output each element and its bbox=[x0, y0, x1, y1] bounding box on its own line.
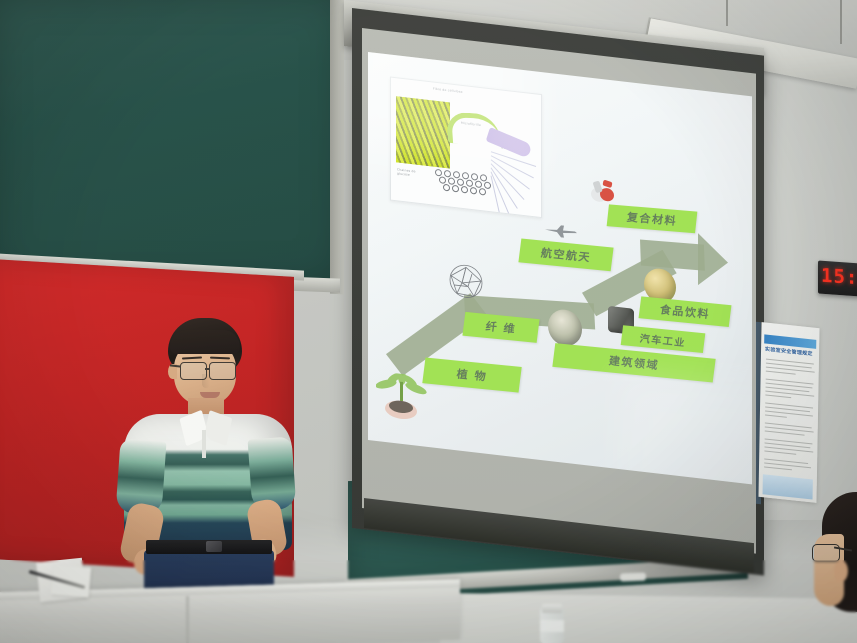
chalkboard-frame bbox=[330, 0, 344, 294]
light-suspension-rod bbox=[840, 0, 842, 44]
inset-caption-bottom: Chaines de glucose bbox=[397, 168, 427, 179]
arrow-head-icon bbox=[698, 233, 728, 288]
wall-clock: 15:2 bbox=[818, 260, 857, 296]
airplane-icon bbox=[544, 222, 578, 240]
wall-poster: 实验室安全管理规定 bbox=[758, 322, 819, 503]
turbine-part-icon bbox=[590, 178, 616, 205]
slide-content: Fibre de cellulose Microfibrille Nanocri… bbox=[368, 52, 752, 484]
eyeglasses-icon bbox=[209, 362, 236, 380]
audience-ear bbox=[834, 560, 848, 582]
desk-seam bbox=[186, 596, 189, 643]
projection-screen: Fibre de cellulose Microfibrille Nanocri… bbox=[368, 52, 752, 484]
audience-member bbox=[812, 492, 857, 643]
poster-footer-image bbox=[763, 474, 813, 499]
front-desk-right bbox=[440, 593, 857, 643]
presenter-nose bbox=[202, 374, 210, 388]
fiber-network-icon bbox=[446, 259, 486, 304]
label-composite: 复合材料 bbox=[607, 204, 698, 233]
clock-time: 15:2 bbox=[821, 265, 857, 290]
classroom-photo: Fibre de cellulose Microfibrille Nanocri… bbox=[0, 0, 857, 643]
seedling-icon bbox=[376, 371, 428, 423]
label-aerospace: 航空航天 bbox=[518, 239, 613, 272]
bottle-label bbox=[540, 620, 564, 632]
presenter-placket bbox=[202, 430, 206, 458]
presenter-hair-fringe bbox=[170, 330, 240, 354]
belt-buckle bbox=[206, 541, 222, 552]
bottle-cap bbox=[542, 604, 562, 613]
arrow-segment-top bbox=[640, 239, 705, 270]
presenter bbox=[110, 318, 300, 608]
chalk-piece bbox=[620, 573, 646, 582]
label-food: 食品饮料 bbox=[639, 296, 732, 327]
label-plant: 植 物 bbox=[422, 357, 521, 392]
light-suspension-rod bbox=[726, 0, 728, 26]
label-automotive: 汽车工业 bbox=[621, 325, 706, 353]
chalkboard-main bbox=[0, 0, 340, 282]
eyeglasses-bridge bbox=[205, 368, 210, 370]
